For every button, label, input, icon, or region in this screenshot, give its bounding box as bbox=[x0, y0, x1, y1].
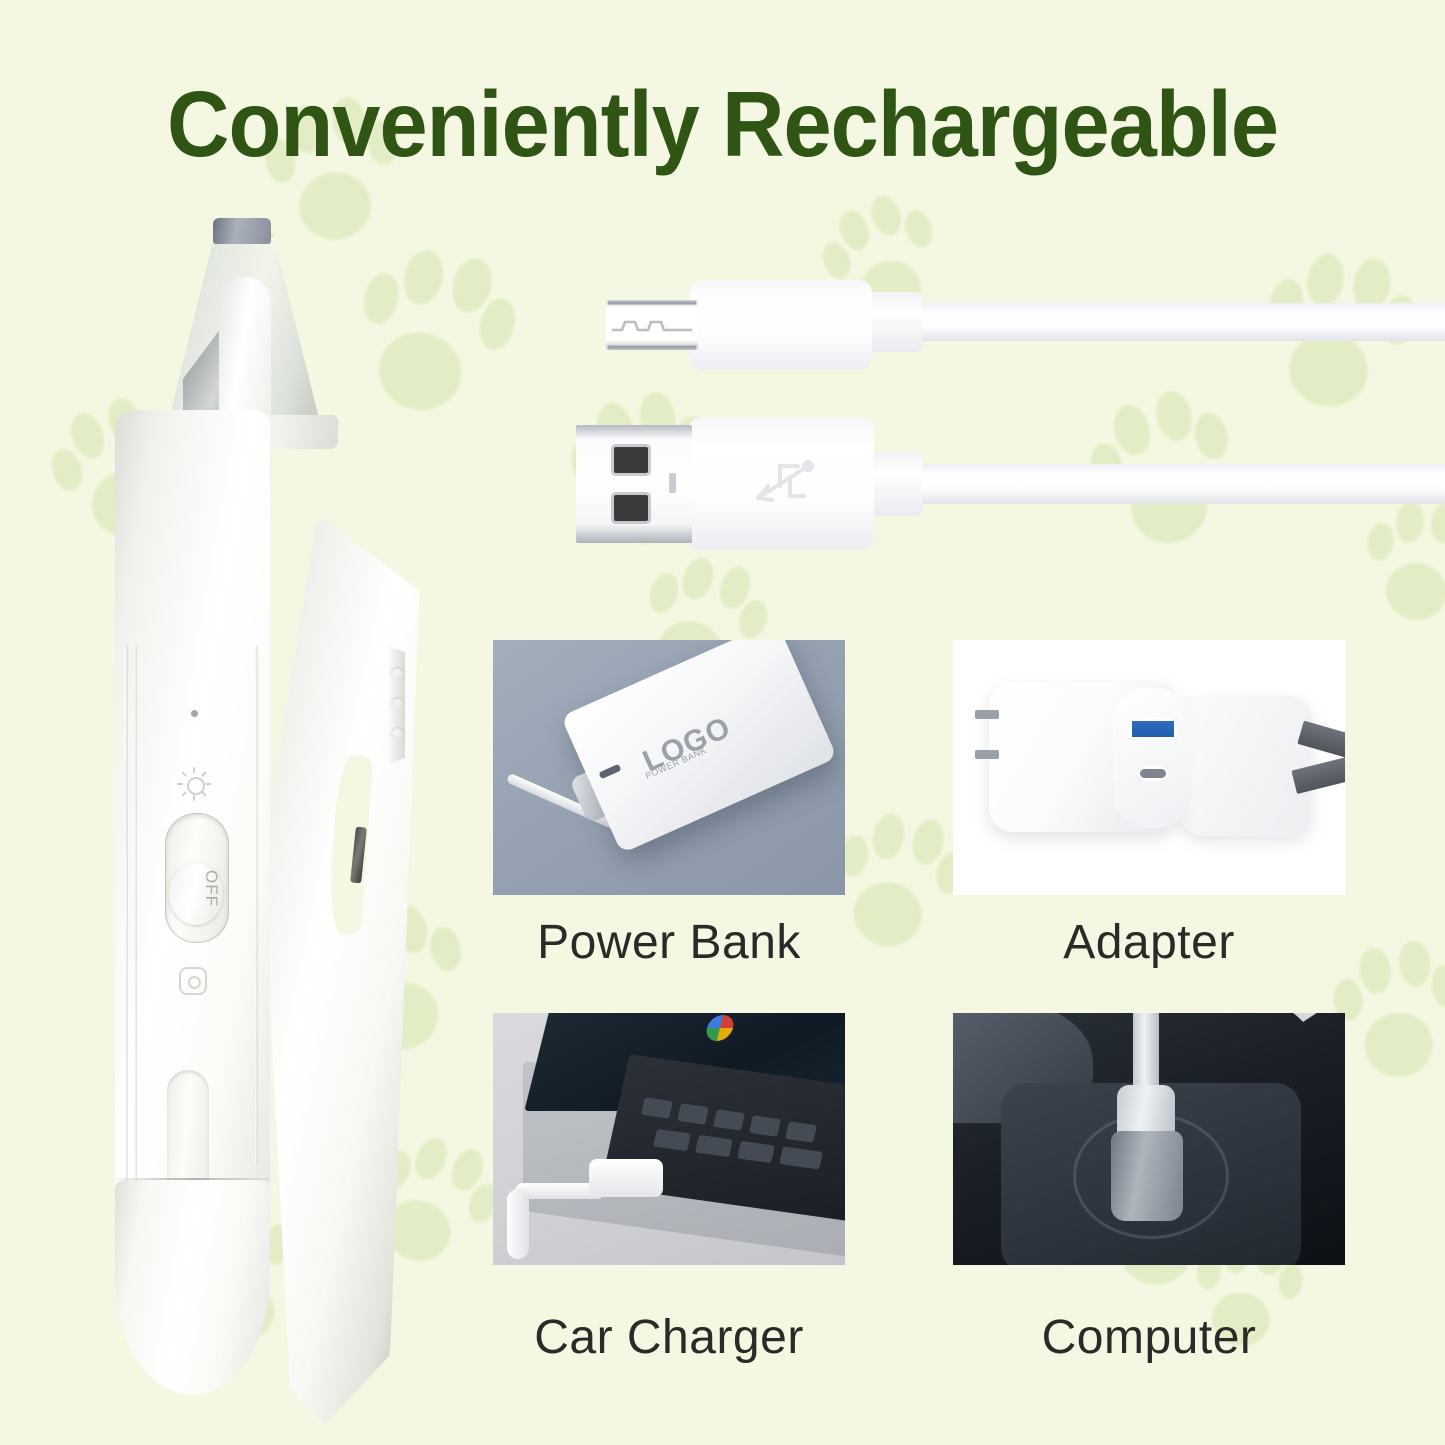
usb-a-port bbox=[1129, 718, 1177, 740]
tile-label-adapter: Adapter bbox=[953, 915, 1345, 970]
tile-label-computer: Computer bbox=[953, 1310, 1345, 1365]
product-image-nail-clipper: OFF bbox=[95, 215, 455, 1395]
adapter-secondary bbox=[1181, 696, 1311, 836]
usb-cable-bend bbox=[507, 1189, 529, 1259]
page-title: Conveniently Rechargeable bbox=[51, 78, 1395, 171]
cable-strain-relief bbox=[866, 452, 922, 516]
grip-notch bbox=[391, 667, 404, 680]
cable-wire bbox=[905, 464, 1445, 504]
micro-usb-pins-icon bbox=[606, 300, 698, 350]
switch-off-label: OFF bbox=[201, 870, 221, 907]
usb-trident-icon bbox=[742, 442, 826, 526]
usb-connector bbox=[589, 1159, 663, 1197]
car-charger-body bbox=[1111, 1131, 1183, 1221]
body-rib bbox=[134, 645, 137, 1185]
device-end-cap bbox=[115, 1180, 270, 1395]
light-icon bbox=[177, 767, 211, 801]
cap-inner-guide bbox=[219, 277, 271, 427]
cable-strain-relief bbox=[866, 292, 922, 352]
tile-computer bbox=[953, 1013, 1345, 1265]
tile-car-charger bbox=[493, 1013, 845, 1265]
tile-adapter bbox=[953, 640, 1345, 895]
usb-contact-pad bbox=[614, 447, 648, 473]
adapter-prong bbox=[975, 710, 999, 719]
body-rib bbox=[255, 645, 258, 1165]
body-rib bbox=[125, 645, 128, 1185]
led-indicator bbox=[191, 710, 198, 717]
grip-notch bbox=[391, 697, 404, 710]
device-seam-line bbox=[116, 1178, 269, 1180]
grip-notch bbox=[391, 727, 404, 740]
cable-wire bbox=[905, 303, 1445, 341]
product-infographic: Conveniently Rechargeable bbox=[0, 0, 1445, 1445]
usb-contact-pad bbox=[614, 495, 648, 521]
tile-label-car-charger: Car Charger bbox=[493, 1310, 845, 1365]
paw-print-icon bbox=[1349, 486, 1445, 635]
adapter-port-face bbox=[1113, 688, 1191, 828]
lock-icon bbox=[179, 967, 207, 995]
micro-usb-housing bbox=[690, 280, 872, 370]
usb-slot bbox=[669, 473, 676, 493]
tile-label-power-bank: Power Bank bbox=[493, 915, 845, 970]
cap-knob bbox=[213, 218, 271, 244]
adapter-prong bbox=[975, 750, 999, 759]
usb-c-port bbox=[1137, 766, 1169, 781]
tile-power-bank: LOGO POWER BANK bbox=[493, 640, 845, 895]
